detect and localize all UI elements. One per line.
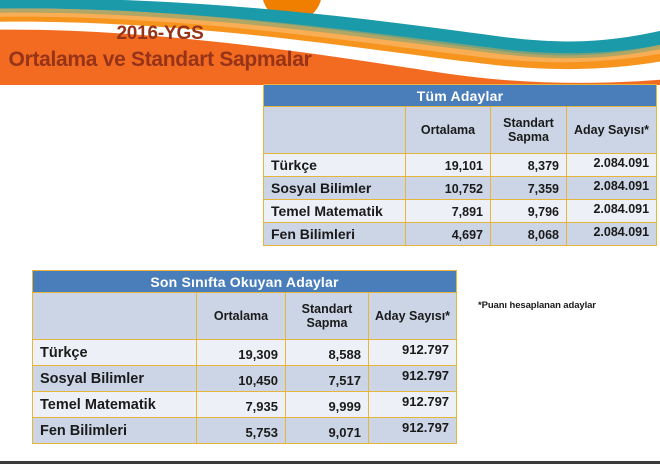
table-row: Sosyal Bilimler 10,450 7,517 912.797 [33,366,457,392]
title-line-1: 2016-YGS [0,22,320,46]
row-label: Sosyal Bilimler [264,177,406,200]
row-label: Sosyal Bilimler [33,366,197,392]
cell-ortalama: 5,753 [197,418,286,444]
table-row: Türkçe 19,101 8,379 2.084.091 [264,154,657,177]
table-header-row: Ortalama Standart Sapma Aday Sayısı* [264,107,657,154]
cell-standart-sapma: 7,359 [491,177,567,200]
cell-standart-sapma: 8,068 [491,223,567,246]
cell-standart-sapma: 8,588 [286,340,369,366]
table-row: Tüm Adaylar [264,85,657,107]
cell-standart-sapma: 9,071 [286,418,369,444]
cell-standart-sapma: 7,517 [286,366,369,392]
table-row: Sosyal Bilimler 10,752 7,359 2.084.091 [264,177,657,200]
table-row: Fen Bilimleri 5,753 9,071 912.797 [33,418,457,444]
cell-aday-sayisi: 2.084.091 [567,154,657,177]
cell-aday-sayisi: 2.084.091 [567,223,657,246]
row-label: Fen Bilimleri [264,223,406,246]
row-label: Türkçe [33,340,197,366]
cell-standart-sapma: 8,379 [491,154,567,177]
bottom-divider [0,461,660,464]
cell-ortalama: 19,309 [197,340,286,366]
column-header-standart-sapma: Standart Sapma [286,293,369,340]
row-label: Fen Bilimleri [33,418,197,444]
cell-aday-sayisi: 2.084.091 [567,200,657,223]
row-label: Temel Matematik [33,392,197,418]
table-row: Temel Matematik 7,891 9,796 2.084.091 [264,200,657,223]
cell-ortalama: 10,752 [406,177,491,200]
cell-ortalama: 7,935 [197,392,286,418]
row-label: Temel Matematik [264,200,406,223]
column-header-aday-sayisi: Aday Sayısı* [567,107,657,154]
cell-ortalama: 7,891 [406,200,491,223]
column-header-blank [33,293,197,340]
table-header-row: Ortalama Standart Sapma Aday Sayısı* [33,293,457,340]
cell-aday-sayisi: 2.084.091 [567,177,657,200]
column-header-ortalama: Ortalama [197,293,286,340]
column-header-blank [264,107,406,154]
cell-aday-sayisi: 912.797 [369,392,457,418]
column-header-ortalama: Ortalama [406,107,491,154]
table-row: Türkçe 19,309 8,588 912.797 [33,340,457,366]
orange-circle-icon [262,0,322,22]
table-tum-adaylar: Tüm Adaylar Ortalama Standart Sapma Aday… [263,84,657,246]
column-header-standart-sapma: Standart Sapma [491,107,567,154]
column-header-aday-sayisi: Aday Sayısı* [369,293,457,340]
cell-standart-sapma: 9,999 [286,392,369,418]
cell-ortalama: 10,450 [197,366,286,392]
slide: 2016-YGS Ortalama ve Standart Sapmalar T… [0,0,660,465]
row-label: Türkçe [264,154,406,177]
page-title: 2016-YGS Ortalama ve Standart Sapmalar [0,22,320,73]
cell-aday-sayisi: 912.797 [369,340,457,366]
table-son-sinifta-okuyan-adaylar: Son Sınıfta Okuyan Adaylar Ortalama Stan… [32,270,457,444]
table-caption: Tüm Adaylar [264,85,657,107]
cell-aday-sayisi: 912.797 [369,366,457,392]
table-row: Fen Bilimleri 4,697 8,068 2.084.091 [264,223,657,246]
cell-ortalama: 19,101 [406,154,491,177]
table-caption: Son Sınıfta Okuyan Adaylar [33,271,457,293]
cell-aday-sayisi: 912.797 [369,418,457,444]
title-line-2: Ortalama ve Standart Sapmalar [0,47,320,73]
cell-ortalama: 4,697 [406,223,491,246]
footnote-puani-hesaplanan-adaylar: *Puanı hesaplanan adaylar [478,300,596,311]
cell-standart-sapma: 9,796 [491,200,567,223]
table-row: Son Sınıfta Okuyan Adaylar [33,271,457,293]
table-row: Temel Matematik 7,935 9,999 912.797 [33,392,457,418]
